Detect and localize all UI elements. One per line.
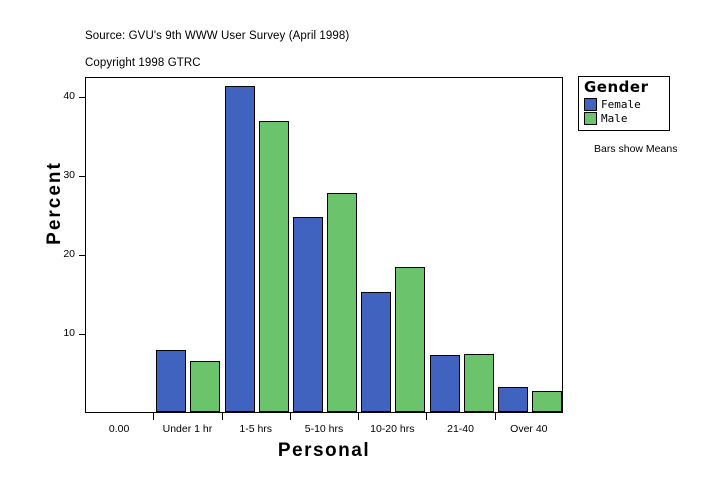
bar-male-1-5-hrs <box>259 121 289 412</box>
legend-item-male: Male <box>584 112 664 125</box>
bar-male-under-1-hr <box>190 361 220 412</box>
bars-show-means-note: Bars show Means <box>594 143 677 155</box>
x-tick-mark <box>495 413 496 420</box>
bar-female-21-40 <box>430 355 460 412</box>
x-tick-label: 10-20 hrs <box>370 423 414 435</box>
x-tick-mark <box>153 413 154 420</box>
legend-item-female: Female <box>584 98 664 111</box>
bar-female-1-5-hrs <box>225 86 255 412</box>
x-tick-mark <box>426 413 427 420</box>
plot-frame <box>85 77 563 413</box>
legend-label-male: Male <box>601 113 628 124</box>
legend-box: Gender Female Male <box>578 76 670 131</box>
y-tick-label: 30 <box>63 169 75 181</box>
legend-label-female: Female <box>601 99 641 110</box>
y-axis-tick: 40 <box>0 97 85 98</box>
x-axis-title: Personal <box>85 440 563 462</box>
x-tick-mark <box>290 413 291 420</box>
x-tick-label: Over 40 <box>510 423 547 435</box>
x-tick-label: 0.00 <box>109 423 129 435</box>
y-tick-mark <box>79 97 85 98</box>
bar-female-over-40 <box>498 387 528 412</box>
bar-male-over-40 <box>532 391 562 412</box>
bar-female-10-20-hrs <box>361 292 391 412</box>
x-tick-label: 1-5 hrs <box>239 423 272 435</box>
copyright-note: Copyright 1998 GTRC <box>85 57 201 69</box>
x-tick-label: 21-40 <box>447 423 474 435</box>
x-tick-mark <box>222 413 223 420</box>
y-axis-tick: 10 <box>0 334 85 335</box>
y-tick-mark <box>79 176 85 177</box>
x-tick-label: Under 1 hr <box>163 423 213 435</box>
y-tick-label: 10 <box>63 327 75 339</box>
y-axis-tick: 30 <box>0 176 85 177</box>
y-tick-label: 20 <box>63 248 75 260</box>
x-tick-mark <box>358 413 359 420</box>
bar-male-21-40 <box>464 354 494 413</box>
bar-female-5-10-hrs <box>293 217 323 412</box>
legend-swatch-male <box>584 112 597 125</box>
y-tick-mark <box>79 334 85 335</box>
y-tick-label: 40 <box>63 90 75 102</box>
y-axis-tick: 20 <box>0 255 85 256</box>
bar-male-10-20-hrs <box>395 267 425 412</box>
source-note: Source: GVU's 9th WWW User Survey (April… <box>85 30 349 42</box>
x-tick-label: 5-10 hrs <box>305 423 344 435</box>
bar-male-5-10-hrs <box>327 193 357 412</box>
bar-female-under-1-hr <box>156 350 186 412</box>
legend-swatch-female <box>584 98 597 111</box>
y-tick-mark <box>79 255 85 256</box>
legend-title: Gender <box>584 80 664 96</box>
plot-area <box>86 78 562 412</box>
